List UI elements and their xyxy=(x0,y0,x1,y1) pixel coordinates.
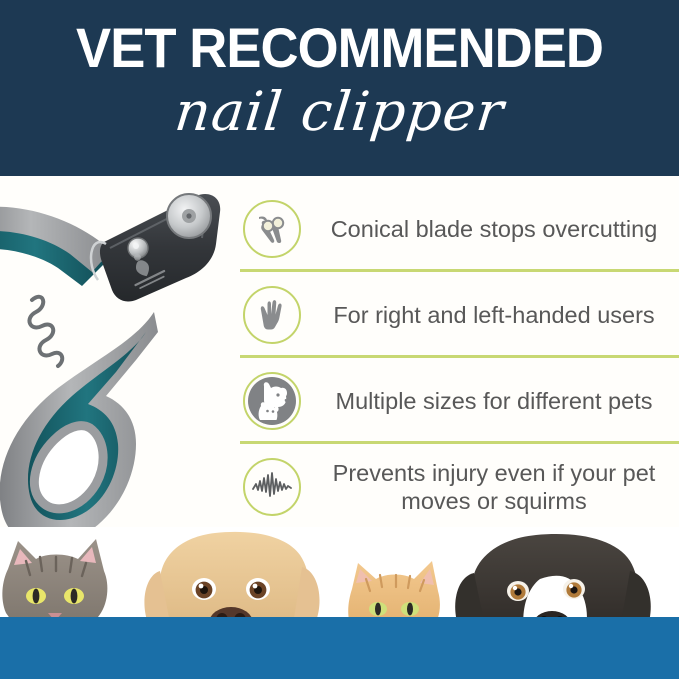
feature-row: Multiple sizes for different pets xyxy=(240,358,679,444)
feature-text: Conical blade stops overcutting xyxy=(313,215,679,243)
product-image xyxy=(0,182,236,542)
pets-photo-strip xyxy=(0,527,679,679)
feature-list: Conical blade stops overcutting For righ… xyxy=(240,186,679,530)
bottom-blue-banner xyxy=(0,617,679,679)
feature-text: For right and left-handed users xyxy=(313,301,679,329)
waveform-icon xyxy=(243,458,301,516)
feature-row: Conical blade stops overcutting xyxy=(240,186,679,272)
feature-row: Prevents injury even if your pet moves o… xyxy=(240,444,679,530)
header-banner: VET RECOMMENDED nail clipper xyxy=(0,0,679,176)
feature-row: For right and left-handed users xyxy=(240,272,679,358)
dog-cat-icon xyxy=(243,372,301,430)
hand-icon xyxy=(243,286,301,344)
page-subtitle: nail clipper xyxy=(0,80,679,144)
conical-blade-icon xyxy=(243,200,301,258)
feature-text: Multiple sizes for different pets xyxy=(313,387,679,415)
page-title: VET RECOMMENDED xyxy=(20,18,658,78)
feature-text: Prevents injury even if your pet moves o… xyxy=(313,459,679,515)
product-infographic: VET RECOMMENDED nail clipper xyxy=(0,0,679,679)
